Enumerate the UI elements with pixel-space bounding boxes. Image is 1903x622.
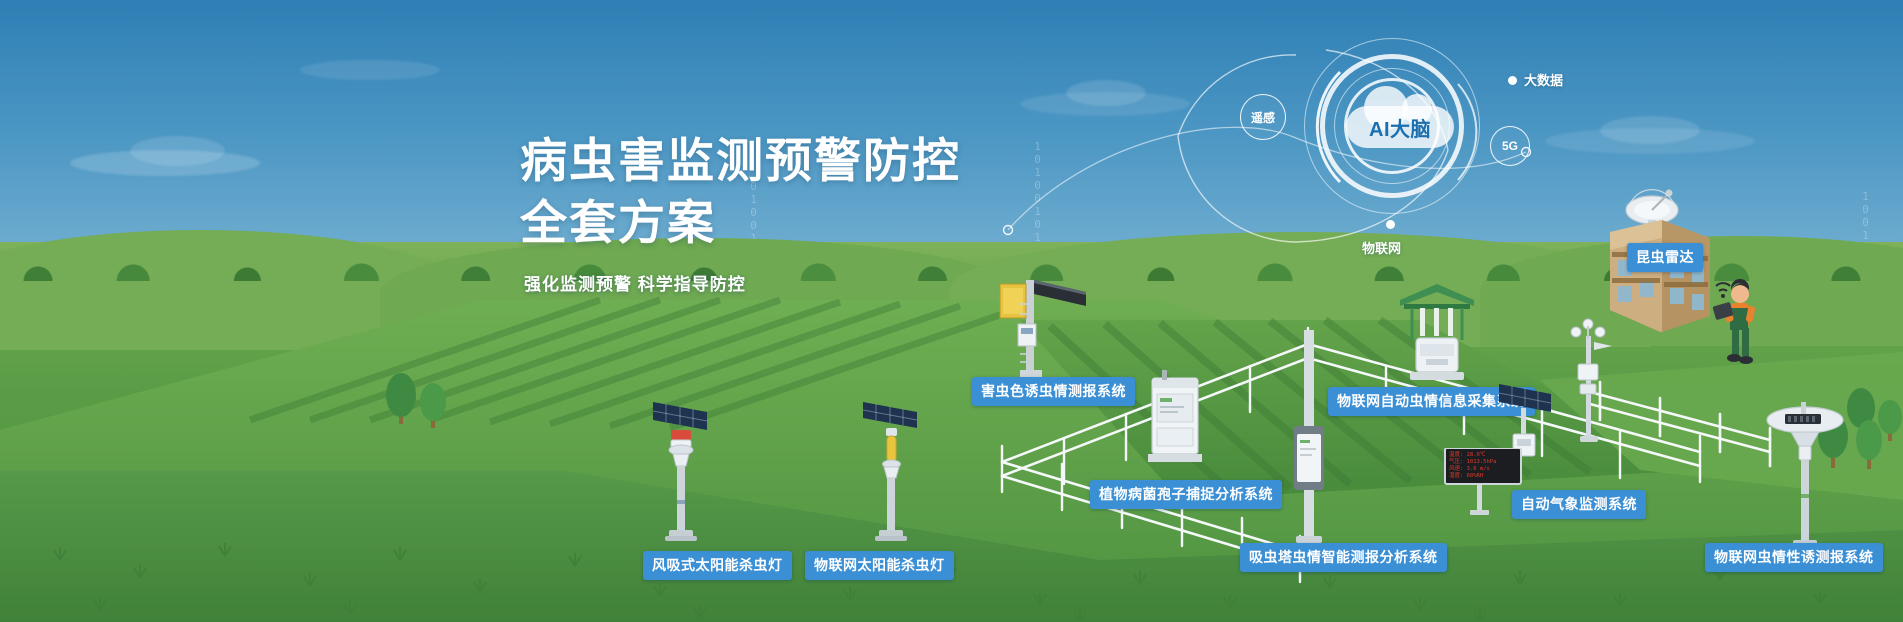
ai-node-remote-sensing[interactable]: 遥感 <box>1240 94 1286 140</box>
device-iot-pest-info <box>1392 272 1482 382</box>
hero-subtitle: 强化监测预警 科学指导防控 <box>524 270 961 295</box>
callout-iot-solar-lamp[interactable]: 物联网太阳能杀虫灯 <box>805 551 954 580</box>
device-weather-solar-panel <box>1495 378 1565 458</box>
iot-dot <box>1386 220 1395 229</box>
callout-wind-solar-lamp[interactable]: 风吸式太阳能杀虫灯 <box>643 551 792 580</box>
ai-node-big-data-label: 大数据 <box>1524 70 1563 89</box>
led-board-text: 温度: 28.0℃ 气压: 1013.5hPa 风速: 3.6 m/s 湿度: … <box>1449 452 1517 480</box>
device-iot-solar-lamp <box>855 398 935 548</box>
callout-spore-capture[interactable]: 植物病菌孢子捕捉分析系统 <box>1090 480 1282 509</box>
hero-title-line-2: 全套方案 <box>520 192 961 254</box>
device-iot-pheromone <box>1765 400 1845 550</box>
ai-cloud-badge: AI大脑 <box>1346 106 1454 148</box>
led-line: 湿度: 68%RH <box>1449 473 1517 480</box>
callout-pest-color-trap[interactable]: 害虫色诱虫情测报系统 <box>972 377 1135 406</box>
led-line: 温度: 28.0℃ <box>1449 452 1517 459</box>
ai-node-5g-label: 5G <box>1502 139 1518 153</box>
callout-auto-weather[interactable]: 自动气象监测系统 <box>1512 490 1646 519</box>
device-wind-solar-lamp <box>645 398 725 548</box>
led-line: 风速: 3.6 m/s <box>1449 466 1517 473</box>
ai-node-iot-label: 物联网 <box>1362 238 1401 257</box>
hero-title-line-1: 病虫害监测预警防控 <box>520 130 961 192</box>
ai-node-5g[interactable]: 5G <box>1490 126 1530 166</box>
led-line: 气压: 1013.5hPa <box>1449 459 1517 466</box>
callout-insect-radar[interactable]: 昆虫雷达 <box>1627 243 1703 272</box>
big-data-dot <box>1508 76 1517 85</box>
hero-title-block: 病虫害监测预警防控 全套方案 强化监测预警 科学指导防控 <box>520 130 961 295</box>
ai-brain-label: AI大脑 <box>1369 113 1431 142</box>
ai-hub: AI大脑 遥感 5G 大数据 物联网 <box>1286 40 1546 240</box>
callout-iot-pheromone[interactable]: 物联网虫情性诱测报系统 <box>1705 543 1883 572</box>
figure-field-worker <box>1700 272 1760 372</box>
device-spore-capture <box>1148 378 1208 468</box>
infographic-banner: 01001010110010100101 0100101011001010 10… <box>0 0 1903 622</box>
device-suction-tower <box>1290 330 1334 540</box>
device-pest-color-trap <box>1000 268 1080 378</box>
callout-suction-tower[interactable]: 吸虫塔虫情智能测报分析系统 <box>1240 543 1447 572</box>
ai-node-remote-sensing-label: 遥感 <box>1251 109 1275 126</box>
